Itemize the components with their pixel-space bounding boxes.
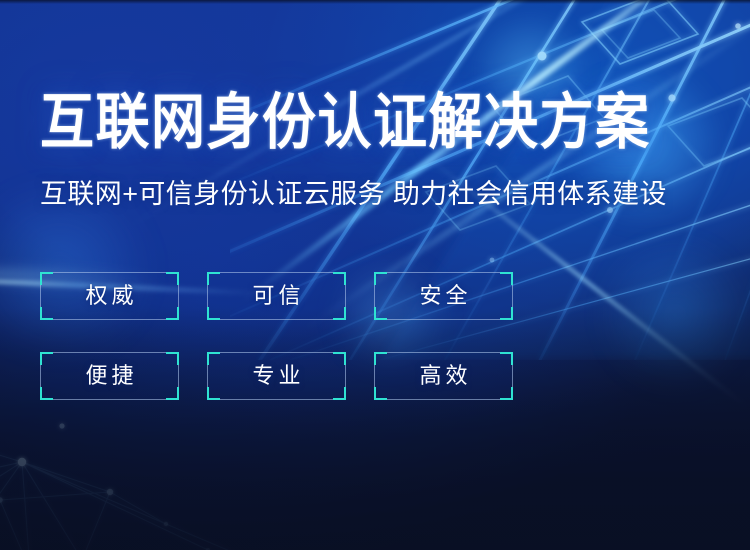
promo-banner: 互联网身份认证解决方案 互联网+可信身份认证云服务 助力社会信用体系建设 权威 … [0, 0, 750, 550]
feature-tag-grid: 权威 可信 安全 便捷 专业 高效 [40, 272, 513, 400]
feature-tag-label: 专业 [248, 365, 304, 387]
feature-tag-professional[interactable]: 专业 [207, 352, 346, 400]
feature-tag-efficient[interactable]: 高效 [374, 352, 513, 400]
page-title: 互联网身份认证解决方案 [40, 92, 651, 152]
feature-tag-label: 便捷 [81, 365, 137, 387]
banner-content: 互联网身份认证解决方案 互联网+可信身份认证云服务 助力社会信用体系建设 权威 … [0, 0, 750, 550]
feature-tag-label: 权威 [81, 285, 137, 307]
feature-tag-authority[interactable]: 权威 [40, 272, 179, 320]
banner-subtitle: 互联网+可信身份认证云服务 助力社会信用体系建设 [40, 181, 667, 208]
feature-tag-label: 安全 [415, 285, 471, 307]
feature-tag-convenient[interactable]: 便捷 [40, 352, 179, 400]
feature-tag-trusted[interactable]: 可信 [207, 272, 346, 320]
feature-tag-label: 可信 [248, 285, 304, 307]
feature-tag-secure[interactable]: 安全 [374, 272, 513, 320]
feature-tag-label: 高效 [415, 365, 471, 387]
